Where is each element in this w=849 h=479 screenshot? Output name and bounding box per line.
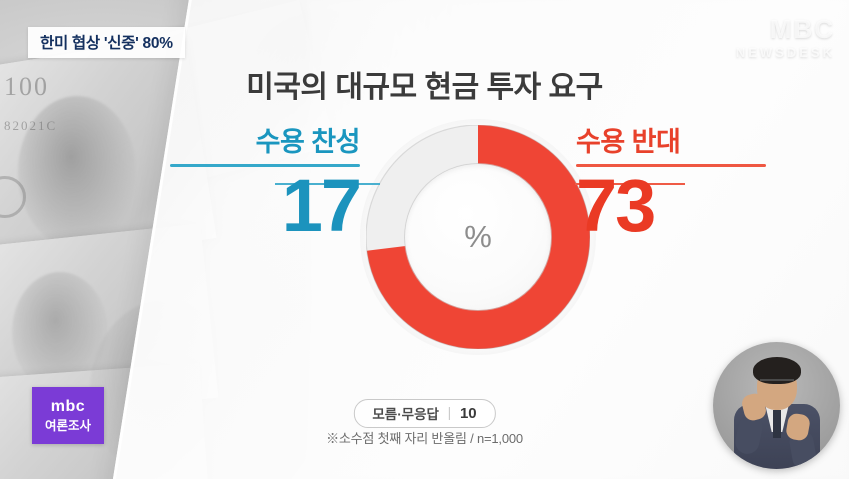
donut-center: % [405,164,551,310]
sign-language-interpreter [713,342,840,469]
legend-favor: 수용 찬성 17 [170,128,360,241]
news-headline-banner: 한미 협상 '신중' 80% [28,27,185,58]
badge-divider [449,407,450,420]
no-answer-value: 10 [460,405,477,422]
percent-symbol: % [464,219,492,255]
interpreter-glasses [760,379,794,388]
watermark-program-name: NEWSDESK [736,46,835,59]
interpreter-tie [773,410,781,438]
page-title: 미국의 대규모 현금 투자 요구 [0,62,849,106]
donut-chart: % [366,125,590,349]
legend-favor-value: 17 [170,171,360,241]
legend-oppose-label: 수용 반대 [576,128,766,158]
poll-source-badge: mbc 여론조사 [32,387,104,444]
legend-oppose-value: 73 [576,171,766,241]
channel-watermark: MBC NEWSDESK [736,16,835,59]
no-answer-badge: 모름·무응답 10 [353,399,495,428]
legend-oppose: 수용 반대 73 [576,128,766,241]
broadcast-graphic-screen: 100 82021C 한미 협상 '신중' 80% MBC NEWSDESK 미… [0,0,849,479]
bill-serial-text: 82021C [4,118,57,134]
no-answer-label: 모름·무응답 [372,403,439,423]
legend-favor-label: 수용 찬성 [170,128,360,158]
watermark-network-name: MBC [736,16,835,42]
poll-badge-label: 여론조사 [45,419,91,433]
poll-badge-network: mbc [51,398,85,416]
